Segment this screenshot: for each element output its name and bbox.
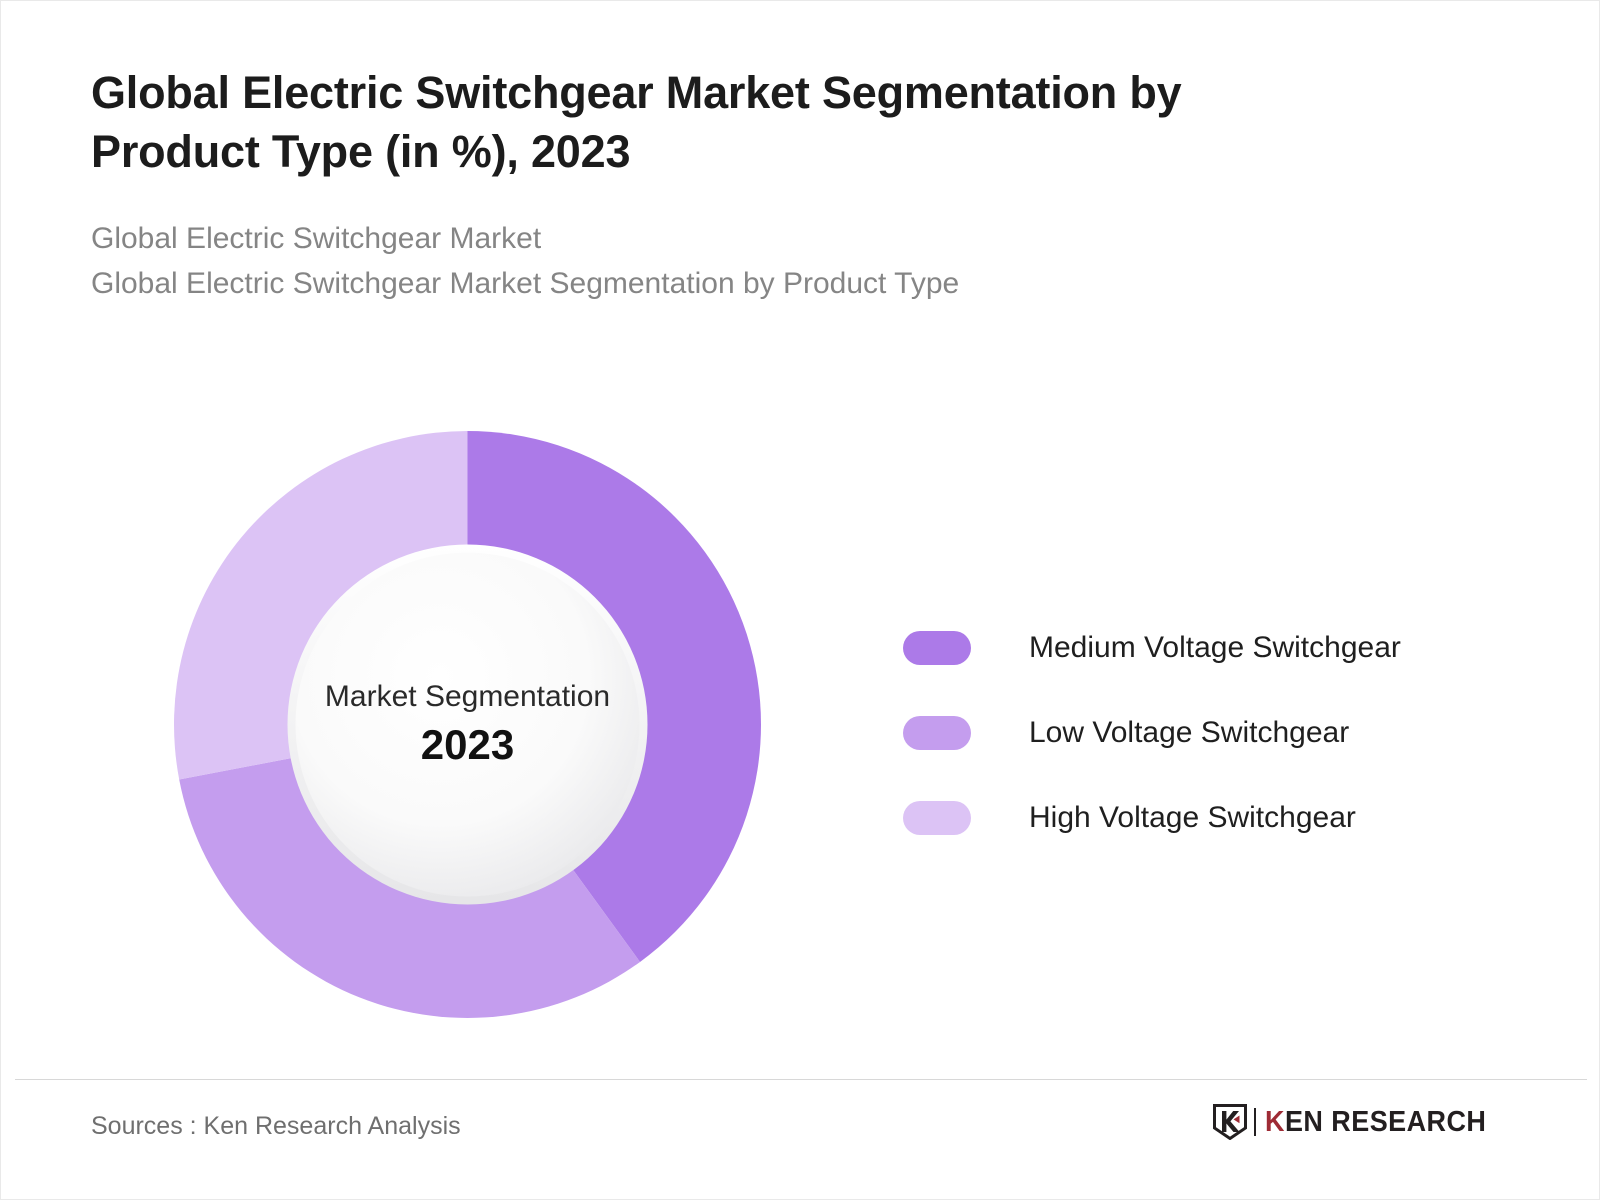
legend-label: High Voltage Switchgear: [1029, 803, 1356, 833]
legend-item-medium-voltage-switchgear[interactable]: Medium Voltage Switchgear: [903, 605, 1543, 690]
subtitle-line-2: Global Electric Switchgear Market Segmen…: [91, 261, 1391, 307]
subtitle-block: Global Electric Switchgear Market Global…: [91, 216, 1391, 307]
brand-name-initial: K: [1265, 1106, 1285, 1138]
logo-divider: [1254, 1108, 1256, 1136]
legend-label: Medium Voltage Switchgear: [1029, 633, 1401, 663]
chart-header: Global Electric Switchgear Market Segmen…: [91, 63, 1391, 307]
subtitle-line-1: Global Electric Switchgear Market: [91, 216, 1391, 262]
ken-research-logo: KEN RESEARCH: [1213, 1102, 1503, 1142]
chart-page: Global Electric Switchgear Market Segmen…: [0, 0, 1600, 1200]
legend-label: Low Voltage Switchgear: [1029, 718, 1349, 748]
brand-name-rest: EN RESEARCH: [1285, 1106, 1486, 1138]
brand-name: KEN RESEARCH: [1265, 1108, 1486, 1137]
legend-item-low-voltage-switchgear[interactable]: Low Voltage Switchgear: [903, 690, 1543, 775]
legend-swatch-icon: [903, 716, 971, 750]
chart-legend: Medium Voltage Switchgear Low Voltage Sw…: [903, 605, 1543, 860]
donut-hole: [296, 553, 640, 897]
legend-item-high-voltage-switchgear[interactable]: High Voltage Switchgear: [903, 775, 1543, 860]
source-text: Sources : Ken Research Analysis: [91, 1112, 461, 1141]
donut-svg: [174, 431, 761, 1018]
legend-swatch-icon: [903, 631, 971, 665]
donut-chart: Market Segmentation 2023: [174, 431, 761, 1018]
page-title: Global Electric Switchgear Market Segmen…: [91, 63, 1351, 182]
legend-swatch-icon: [903, 801, 971, 835]
ken-research-shield-k-icon: [1213, 1104, 1247, 1140]
chart-area: Market Segmentation 2023 Medium Voltage …: [1, 399, 1600, 1059]
chart-footer: Sources : Ken Research Analysis KEN RESE…: [1, 1080, 1600, 1200]
